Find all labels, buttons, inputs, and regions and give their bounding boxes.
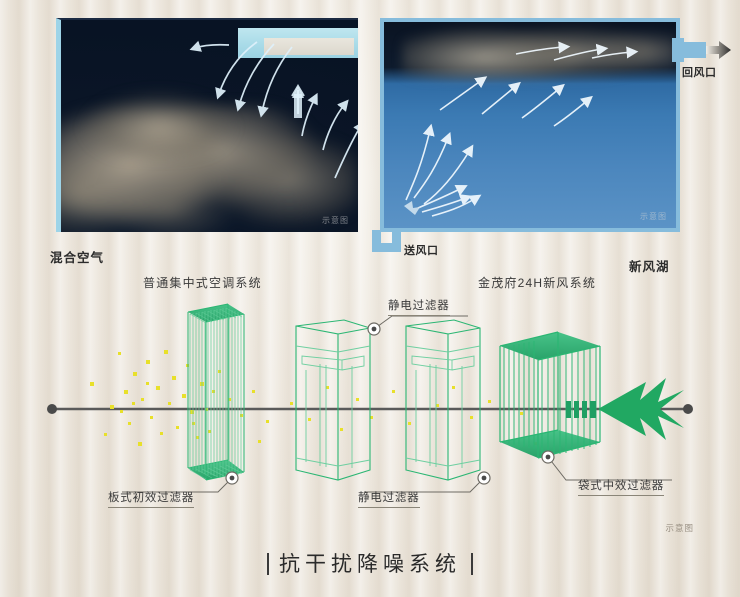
label-electrostatic-filter-top: 静电过滤器 [388, 297, 450, 316]
footer-title-text: 抗干扰降噪系统 [279, 552, 461, 576]
page-root: 示意图 混合空气 普通集中式空调系统 [0, 0, 740, 597]
filter-diagram: 静电过滤器 板式初效过滤器 静电过滤器 袋式中效过滤器 示意图 [0, 290, 740, 540]
label-electrostatic-filter-bottom: 静电过滤器 [358, 489, 420, 508]
caption-jinmao-system: 金茂府24H新风系统 [478, 274, 596, 291]
watermark-left: 示意图 [322, 215, 349, 226]
panel-mixed-air: 示意图 [56, 18, 358, 232]
bag-medium-filter [500, 332, 600, 458]
return-air-arrow-icon [706, 40, 732, 60]
electrostatic-filter-2 [406, 320, 480, 480]
caption-fresh-air-lake: 新风湖 [629, 256, 670, 275]
plate-primary-filter [188, 304, 244, 480]
return-air-duct [680, 42, 706, 58]
airflow-arrows-left [61, 20, 358, 232]
particle-cloud [90, 350, 537, 446]
title-bar-right [471, 553, 473, 575]
axis-endpoint-right [683, 404, 693, 414]
axis-endpoint-left [47, 404, 57, 414]
label-bag-medium-filter: 袋式中效过滤器 [578, 477, 664, 496]
label-plate-primary-filter: 板式初效过滤器 [108, 489, 194, 508]
label-return-air: 回风口 [682, 64, 717, 80]
panel-fresh-air: 示意图 [380, 18, 680, 232]
label-supply-air: 送风口 [404, 242, 439, 258]
watermark-right: 示意图 [640, 211, 667, 222]
airflow-arrows-right [384, 22, 676, 228]
caption-mixed-air: 混合空气 [50, 247, 104, 266]
caption-conventional-system: 普通集中式空调系统 [143, 274, 262, 291]
footer-title: 抗干扰降噪系统 [0, 548, 740, 578]
title-bar-left [267, 553, 269, 575]
supply-air-duct-horizontal [372, 243, 401, 252]
watermark-diagram: 示意图 [665, 522, 694, 534]
